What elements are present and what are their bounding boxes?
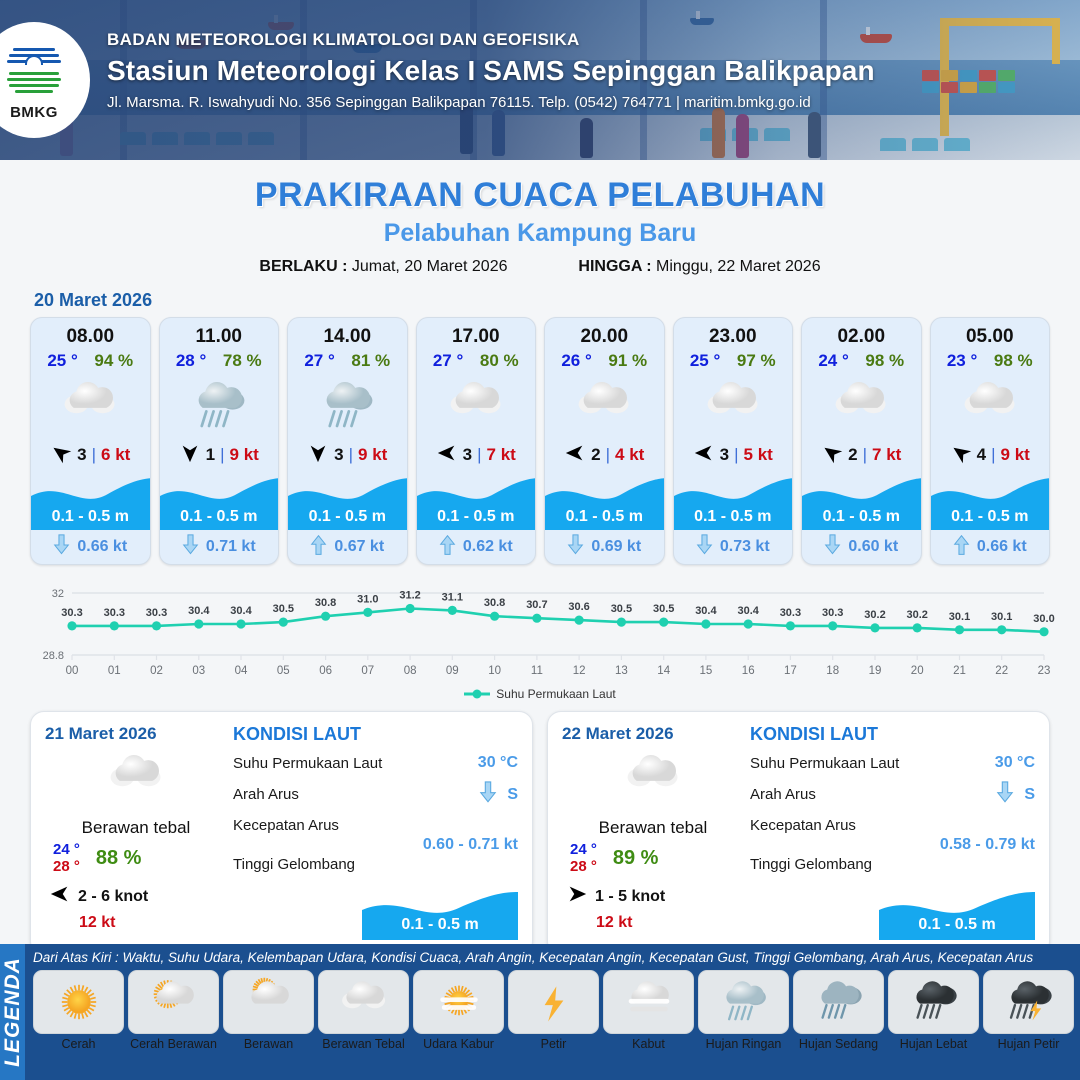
- svg-text:30.1: 30.1: [991, 611, 1012, 623]
- svg-text:30.3: 30.3: [61, 607, 82, 619]
- svg-text:30.2: 30.2: [906, 609, 927, 621]
- legend-item-label: Hujan Lebat: [888, 1037, 979, 1051]
- current-direction-arrow-icon: [953, 534, 970, 560]
- legend-item: Hujan Lebat: [888, 970, 979, 1051]
- legend-item: Hujan Sedang: [793, 970, 884, 1051]
- panel-temp-min: 24 °: [53, 841, 80, 858]
- forecast-card: 20.0026 °91 %2|4 kt0.1 - 0.5 m0.69 kt: [544, 317, 665, 565]
- wind-direction-arrow-icon: [566, 883, 588, 910]
- panel-date: 21 Maret 2026: [45, 724, 227, 744]
- card-humidity: 94 %: [94, 351, 133, 371]
- forecast-card: 14.0027 °81 %3|9 kt0.1 - 0.5 m0.67 kt: [287, 317, 408, 565]
- current-speed-value: 0.60 - 0.71 kt: [233, 836, 518, 854]
- legend-item: Kabut: [603, 970, 694, 1051]
- panel-date: 22 Maret 2026: [562, 724, 744, 744]
- card-wind-speed: 3: [463, 445, 472, 465]
- separator: |: [349, 445, 353, 465]
- svg-text:08: 08: [404, 665, 417, 677]
- card-gust: 9 kt: [358, 445, 387, 465]
- cerah-icon: [33, 970, 124, 1034]
- card-current-speed: 0.62 kt: [463, 538, 513, 556]
- legend-item: Udara Kabur: [413, 970, 504, 1051]
- legend-item-label: Hujan Petir: [983, 1037, 1074, 1051]
- panel-wave-value: 0.1 - 0.5 m: [879, 916, 1035, 934]
- wind-direction-arrow-icon: [49, 883, 71, 910]
- panel-wave-band: 0.1 - 0.5 m: [362, 888, 518, 940]
- card-humidity: 98 %: [994, 351, 1033, 371]
- forecast-card: 05.0023 °98 %4|9 kt0.1 - 0.5 m0.66 kt: [930, 317, 1051, 565]
- card-wind-speed: 4: [977, 445, 986, 465]
- wave-height-label: Tinggi Gelombang: [750, 856, 872, 873]
- wave-band: 0.1 - 0.5 m: [674, 472, 793, 530]
- legend-item-label: Cerah: [33, 1037, 124, 1051]
- svg-text:00: 00: [66, 665, 79, 677]
- hujan-lebat-icon: [888, 970, 979, 1034]
- panel-condition: Berawan tebal: [45, 818, 227, 838]
- current-direction-arrow-icon: [310, 534, 327, 560]
- berawan-tebal-icon: [674, 373, 793, 439]
- cerah-berawan-icon: [128, 970, 219, 1034]
- current-direction-arrow-icon: [439, 534, 456, 560]
- separator: |: [477, 445, 481, 465]
- legend-item: Berawan: [223, 970, 314, 1051]
- wave-band: 0.1 - 0.5 m: [417, 472, 536, 530]
- svg-text:15: 15: [700, 665, 713, 677]
- card-gust: 6 kt: [101, 445, 130, 465]
- berawan-tebal-icon: [417, 373, 536, 439]
- card-wave-height: 0.1 - 0.5 m: [288, 508, 407, 526]
- panel-gust: 12 kt: [45, 914, 227, 932]
- svg-text:30.6: 30.6: [568, 601, 589, 613]
- card-temperature: 27 °: [304, 351, 334, 371]
- current-direction-value: S: [1024, 786, 1035, 804]
- card-current-speed: 0.66 kt: [77, 538, 127, 556]
- card-time: 20.00: [545, 318, 664, 348]
- svg-text:32: 32: [52, 588, 64, 600]
- chart-legend-marker-icon: [464, 689, 490, 699]
- wave-band: 0.1 - 0.5 m: [288, 472, 407, 530]
- card-time: 05.00: [931, 318, 1050, 348]
- kabut-icon: [603, 970, 694, 1034]
- bmkg-logo-mark: [3, 39, 65, 101]
- panel-humidity: 88 %: [96, 847, 142, 870]
- svg-text:16: 16: [742, 665, 755, 677]
- wind-direction-arrow-icon: [950, 442, 972, 469]
- day-summary-panel: 21 Maret 2026Berawan tebal24 °28 °88 %2 …: [30, 711, 533, 955]
- panel-wind-range: 1 - 5 knot: [595, 888, 665, 906]
- card-current-speed: 0.73 kt: [720, 538, 770, 556]
- svg-text:18: 18: [826, 665, 839, 677]
- svg-text:05: 05: [277, 665, 290, 677]
- day-panels: 21 Maret 2026Berawan tebal24 °28 °88 %2 …: [0, 701, 1080, 955]
- page-subtitle: Pelabuhan Kampung Baru: [0, 219, 1080, 248]
- hujan-ringan-icon: [288, 373, 407, 439]
- svg-text:30.4: 30.4: [230, 605, 252, 617]
- card-gust: 4 kt: [615, 445, 644, 465]
- legend-item-label: Kabut: [603, 1037, 694, 1051]
- legend-footer: LEGENDA Dari Atas Kiri : Waktu, Suhu Uda…: [0, 944, 1080, 1080]
- svg-text:31.0: 31.0: [357, 593, 378, 605]
- card-temperature: 23 °: [947, 351, 977, 371]
- wave-band: 0.1 - 0.5 m: [931, 472, 1050, 530]
- panel-gust: 12 kt: [562, 914, 744, 932]
- berlaku-value: Jumat, 20 Maret 2026: [352, 258, 508, 275]
- card-wind-speed: 3: [334, 445, 343, 465]
- svg-text:19: 19: [869, 665, 882, 677]
- chart-legend: Suhu Permukaan Laut: [0, 687, 1080, 701]
- hujan-ringan-icon: [160, 373, 279, 439]
- card-current-speed: 0.69 kt: [591, 538, 641, 556]
- card-time: 08.00: [31, 318, 150, 348]
- agency-name: BADAN METEOROLOGI KLIMATOLOGI DAN GEOFIS…: [107, 30, 875, 50]
- wave-band: 0.1 - 0.5 m: [31, 472, 150, 530]
- svg-text:30.8: 30.8: [484, 597, 505, 609]
- card-wave-height: 0.1 - 0.5 m: [417, 508, 536, 526]
- forecast-card: 11.0028 °78 %1|9 kt0.1 - 0.5 m0.71 kt: [159, 317, 280, 565]
- sea-conditions-title: KONDISI LAUT: [233, 724, 518, 745]
- legend-item: Cerah Berawan: [128, 970, 219, 1051]
- berlaku-label: BERLAKU :: [259, 258, 347, 275]
- berawan-icon: [223, 970, 314, 1034]
- legend-title-strip: LEGENDA: [0, 944, 25, 1080]
- svg-text:12: 12: [573, 665, 586, 677]
- station-address: Jl. Marsma. R. Iswahyudi No. 356 Sepingg…: [107, 94, 875, 111]
- svg-text:30.4: 30.4: [695, 605, 717, 617]
- current-speed-value: 0.58 - 0.79 kt: [750, 836, 1035, 854]
- card-humidity: 78 %: [223, 351, 262, 371]
- legend-item-label: Udara Kabur: [413, 1037, 504, 1051]
- current-direction-arrow-icon: [53, 534, 70, 560]
- legend-item-label: Cerah Berawan: [128, 1037, 219, 1051]
- svg-text:11: 11: [531, 665, 543, 677]
- sst-value: 30 °C: [478, 754, 518, 772]
- svg-text:30.3: 30.3: [822, 607, 843, 619]
- current-direction-label: Arah Arus: [750, 786, 816, 803]
- wave-band: 0.1 - 0.5 m: [802, 472, 921, 530]
- card-temperature: 24 °: [818, 351, 848, 371]
- sst-label: Suhu Permukaan Laut: [750, 755, 899, 772]
- card-wave-height: 0.1 - 0.5 m: [545, 508, 664, 526]
- wave-band: 0.1 - 0.5 m: [160, 472, 279, 530]
- legend-note: Dari Atas Kiri : Waktu, Suhu Udara, Kele…: [33, 950, 1074, 965]
- card-gust: 7 kt: [487, 445, 516, 465]
- legend-item-label: Berawan: [223, 1037, 314, 1051]
- card-humidity: 98 %: [865, 351, 904, 371]
- card-humidity: 80 %: [480, 351, 519, 371]
- berawan-tebal-icon: [802, 373, 921, 439]
- card-wind-speed: 2: [848, 445, 857, 465]
- card-gust: 7 kt: [872, 445, 901, 465]
- card-time: 14.00: [288, 318, 407, 348]
- svg-text:30.5: 30.5: [653, 603, 674, 615]
- bmkg-logo-text: BMKG: [10, 104, 58, 121]
- current-direction-arrow-icon: [567, 534, 584, 560]
- panel-temp-max: 28 °: [53, 858, 80, 875]
- legend-item: Hujan Ringan: [698, 970, 789, 1051]
- hingga-value: Minggu, 22 Maret 2026: [656, 258, 821, 275]
- legend-item: Berawan Tebal: [318, 970, 409, 1051]
- berawan-tebal-icon: [31, 373, 150, 439]
- berawan-tebal-icon: [318, 970, 409, 1034]
- card-wind-speed: 2: [591, 445, 600, 465]
- card-gust: 5 kt: [744, 445, 773, 465]
- card-wind-speed: 3: [77, 445, 86, 465]
- card-temperature: 28 °: [176, 351, 206, 371]
- sst-value: 30 °C: [995, 754, 1035, 772]
- svg-text:30.7: 30.7: [526, 599, 547, 611]
- legend-icon-list: CerahCerah BerawanBerawanBerawan TebalUd…: [33, 970, 1074, 1051]
- separator: |: [606, 445, 610, 465]
- wind-direction-arrow-icon: [821, 442, 843, 469]
- separator: |: [92, 445, 96, 465]
- wind-direction-arrow-icon: [693, 442, 715, 469]
- svg-text:13: 13: [615, 665, 628, 677]
- panel-temp-max: 28 °: [570, 858, 597, 875]
- legend-item-label: Petir: [508, 1037, 599, 1051]
- forecast-cards: 08.0025 °94 %3|6 kt0.1 - 0.5 m0.66 kt11.…: [0, 317, 1080, 565]
- hujan-ringan-icon: [698, 970, 789, 1034]
- card-humidity: 81 %: [351, 351, 390, 371]
- svg-text:14: 14: [657, 665, 670, 677]
- svg-text:30.3: 30.3: [104, 607, 125, 619]
- card-gust: 9 kt: [1001, 445, 1030, 465]
- card-current-speed: 0.66 kt: [977, 538, 1027, 556]
- separator: |: [734, 445, 738, 465]
- svg-text:23: 23: [1038, 665, 1051, 677]
- card-gust: 9 kt: [230, 445, 259, 465]
- card-temperature: 25 °: [690, 351, 720, 371]
- svg-text:30.1: 30.1: [949, 611, 970, 623]
- card-wave-height: 0.1 - 0.5 m: [31, 508, 150, 526]
- wind-direction-arrow-icon: [307, 442, 329, 469]
- validity-row: BERLAKU : Jumat, 20 Maret 2026 HINGGA : …: [0, 258, 1080, 276]
- svg-text:28.8: 28.8: [43, 650, 64, 662]
- card-current-speed: 0.60 kt: [848, 538, 898, 556]
- berawan-tebal-icon: [931, 373, 1050, 439]
- panel-wave-value: 0.1 - 0.5 m: [362, 916, 518, 934]
- panel-wind-range: 2 - 6 knot: [78, 888, 148, 906]
- card-time: 17.00: [417, 318, 536, 348]
- petir-icon: [508, 970, 599, 1034]
- svg-text:20: 20: [911, 665, 924, 677]
- card-wind-speed: 1: [206, 445, 215, 465]
- current-direction-arrow-icon: [182, 534, 199, 560]
- svg-text:30.3: 30.3: [146, 607, 167, 619]
- svg-text:30.4: 30.4: [737, 605, 759, 617]
- berawan-tebal-icon: [545, 373, 664, 439]
- card-time: 23.00: [674, 318, 793, 348]
- card-current-speed: 0.67 kt: [334, 538, 384, 556]
- separator: |: [863, 445, 867, 465]
- current-direction-arrow-icon: [696, 534, 713, 560]
- svg-text:30.8: 30.8: [315, 597, 336, 609]
- forecast-day-label: 20 Maret 2026: [34, 290, 1080, 311]
- svg-text:07: 07: [361, 665, 374, 677]
- svg-text:30.5: 30.5: [273, 603, 294, 615]
- svg-text:02: 02: [150, 665, 163, 677]
- card-humidity: 97 %: [737, 351, 776, 371]
- current-direction-label: Arah Arus: [233, 786, 299, 803]
- svg-text:06: 06: [319, 665, 332, 677]
- forecast-card: 08.0025 °94 %3|6 kt0.1 - 0.5 m0.66 kt: [30, 317, 151, 565]
- svg-text:22: 22: [995, 665, 1008, 677]
- card-temperature: 25 °: [47, 351, 77, 371]
- wave-band: 0.1 - 0.5 m: [545, 472, 664, 530]
- legend-body: Dari Atas Kiri : Waktu, Suhu Udara, Kele…: [25, 944, 1080, 1080]
- card-wave-height: 0.1 - 0.5 m: [931, 508, 1050, 526]
- wind-direction-arrow-icon: [436, 442, 458, 469]
- sea-conditions-title: KONDISI LAUT: [750, 724, 1035, 745]
- card-current-speed: 0.71 kt: [206, 538, 256, 556]
- card-time: 02.00: [802, 318, 921, 348]
- header-text-block: BADAN METEOROLOGI KLIMATOLOGI DAN GEOFIS…: [107, 30, 875, 111]
- svg-text:30.0: 30.0: [1033, 613, 1054, 625]
- svg-text:31.1: 31.1: [442, 591, 463, 603]
- card-temperature: 26 °: [561, 351, 591, 371]
- wind-direction-arrow-icon: [564, 442, 586, 469]
- svg-text:03: 03: [192, 665, 205, 677]
- current-direction-arrow-icon: [824, 534, 841, 560]
- card-wind-speed: 3: [720, 445, 729, 465]
- svg-text:04: 04: [235, 665, 248, 677]
- forecast-card: 23.0025 °97 %3|5 kt0.1 - 0.5 m0.73 kt: [673, 317, 794, 565]
- sst-label: Suhu Permukaan Laut: [233, 755, 382, 772]
- berawan-tebal-icon: [45, 748, 227, 810]
- sst-chart-svg: 3228.830.30030.30130.30230.40330.40430.5…: [24, 577, 1056, 685]
- legend-item: Petir: [508, 970, 599, 1051]
- station-name: Stasiun Meteorologi Kelas I SAMS Sepingg…: [107, 55, 875, 87]
- separator: |: [991, 445, 995, 465]
- day-summary-panel: 22 Maret 2026Berawan tebal24 °28 °89 %1 …: [547, 711, 1050, 955]
- svg-text:10: 10: [488, 665, 501, 677]
- card-humidity: 91 %: [608, 351, 647, 371]
- panel-wave-band: 0.1 - 0.5 m: [879, 888, 1035, 940]
- svg-text:09: 09: [446, 665, 459, 677]
- udara-kabur-icon: [413, 970, 504, 1034]
- svg-text:21: 21: [953, 665, 966, 677]
- current-speed-label: Kecepatan Arus: [233, 817, 339, 834]
- panel-condition: Berawan tebal: [562, 818, 744, 838]
- panel-humidity: 89 %: [613, 847, 659, 870]
- legend-title: LEGENDA: [1, 957, 25, 1067]
- card-wave-height: 0.1 - 0.5 m: [802, 508, 921, 526]
- current-direction-arrow-icon: [479, 781, 497, 809]
- svg-text:01: 01: [108, 665, 121, 677]
- card-time: 11.00: [160, 318, 279, 348]
- wind-direction-arrow-icon: [179, 442, 201, 469]
- page-title: PRAKIRAAN CUACA PELABUHAN: [0, 176, 1080, 215]
- current-speed-label: Kecepatan Arus: [750, 817, 856, 834]
- sst-chart: 3228.830.30030.30130.30230.40330.40430.5…: [24, 577, 1056, 685]
- legend-item: Hujan Petir: [983, 970, 1074, 1051]
- page-header: BMKG BADAN METEOROLOGI KLIMATOLOGI DAN G…: [0, 0, 1080, 160]
- hingga-label: HINGGA :: [578, 258, 651, 275]
- legend-item-label: Berawan Tebal: [318, 1037, 409, 1051]
- forecast-card: 02.0024 °98 %2|7 kt0.1 - 0.5 m0.60 kt: [801, 317, 922, 565]
- card-wave-height: 0.1 - 0.5 m: [674, 508, 793, 526]
- forecast-card: 17.0027 °80 %3|7 kt0.1 - 0.5 m0.62 kt: [416, 317, 537, 565]
- svg-text:30.3: 30.3: [780, 607, 801, 619]
- svg-text:17: 17: [784, 665, 797, 677]
- card-temperature: 27 °: [433, 351, 463, 371]
- current-direction-arrow-icon: [996, 781, 1014, 809]
- card-wave-height: 0.1 - 0.5 m: [160, 508, 279, 526]
- svg-text:31.2: 31.2: [399, 590, 420, 602]
- hujan-petir-icon: [983, 970, 1074, 1034]
- separator: |: [220, 445, 224, 465]
- hujan-sedang-icon: [793, 970, 884, 1034]
- svg-text:30.5: 30.5: [611, 603, 632, 615]
- chart-legend-label: Suhu Permukaan Laut: [496, 687, 615, 701]
- svg-text:30.4: 30.4: [188, 605, 210, 617]
- legend-item-label: Hujan Sedang: [793, 1037, 884, 1051]
- current-direction-value: S: [507, 786, 518, 804]
- svg-text:30.2: 30.2: [864, 609, 885, 621]
- panel-temp-min: 24 °: [570, 841, 597, 858]
- berawan-tebal-icon: [562, 748, 744, 810]
- title-block: PRAKIRAAN CUACA PELABUHAN Pelabuhan Kamp…: [0, 176, 1080, 276]
- legend-item-label: Hujan Ringan: [698, 1037, 789, 1051]
- wind-direction-arrow-icon: [50, 442, 72, 469]
- legend-item: Cerah: [33, 970, 124, 1051]
- wave-height-label: Tinggi Gelombang: [233, 856, 355, 873]
